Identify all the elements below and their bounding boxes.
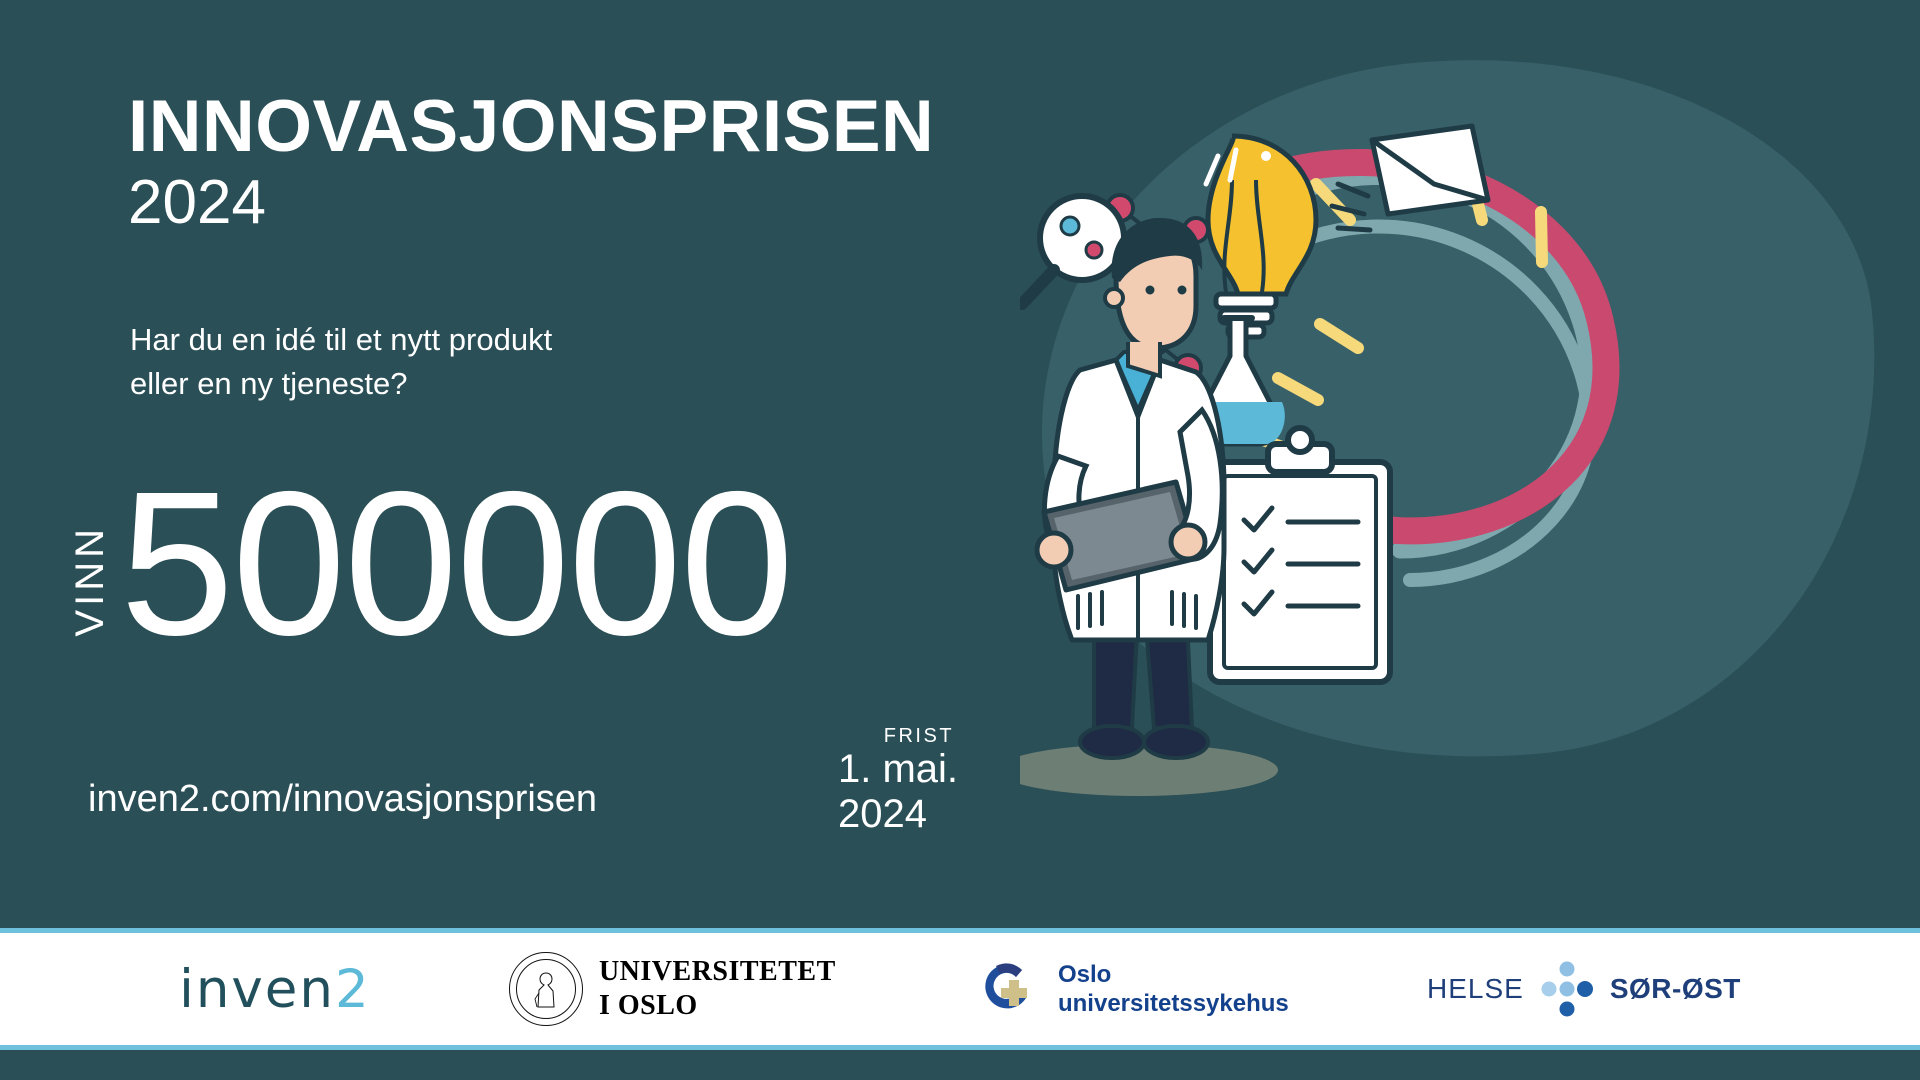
footer-logo-row: inven2 UNIVERSITETET I OSLO <box>0 952 1920 1026</box>
poster-canvas: INNOVASJONSPRISEN 2024 Har du en idé til… <box>0 0 1920 1080</box>
hso-dots-icon <box>1536 960 1598 1018</box>
deadline-label: FRIST <box>838 725 958 747</box>
ous-wordmark-line-2: universitetssykehus <box>1058 989 1289 1018</box>
subtitle-line-2: eller en ny tjeneste? <box>130 362 552 406</box>
inven2-wordmark-light: 2 <box>335 959 371 1020</box>
logo-helse-sor-ost: HELSE SØR-ØST <box>1427 960 1741 1018</box>
headline-year: 2024 <box>128 167 934 238</box>
deadline-block: FRIST 1. mai. 2024 <box>838 725 958 837</box>
ous-mark-icon <box>974 954 1044 1024</box>
prize-block: VINN 500000 <box>70 478 792 650</box>
logo-oslo-universitetssykehus: Oslo universitetssykehus <box>974 954 1289 1024</box>
page-title: INNOVASJONSPRISEN <box>128 90 934 163</box>
scientist-illustration <box>1020 80 1900 840</box>
poster-main-area: INNOVASJONSPRISEN 2024 Har du en idé til… <box>0 0 1920 928</box>
hso-wordmark-helse: HELSE <box>1427 973 1524 1005</box>
deadline-year: 2024 <box>838 792 958 837</box>
logo-universitetet-i-oslo: UNIVERSITETET I OSLO <box>509 952 836 1026</box>
inven2-wordmark-dark: inven <box>179 959 335 1020</box>
uio-seal-icon <box>509 952 583 1026</box>
subtitle-line-1: Har du en idé til et nytt produkt <box>130 318 552 362</box>
vinn-label: VINN <box>70 525 110 637</box>
clipboard-checklist-icon <box>1210 428 1390 682</box>
headline-block: INNOVASJONSPRISEN 2024 <box>128 90 934 238</box>
bottom-strip <box>0 1055 1920 1080</box>
prize-amount: 500000 <box>120 478 792 650</box>
uio-wordmark-line-1: UNIVERSITETET <box>599 955 836 989</box>
hso-wordmark-sorost: SØR-ØST <box>1610 973 1741 1005</box>
subtitle-block: Har du en idé til et nytt produkt eller … <box>130 318 552 406</box>
website-url[interactable]: inven2.com/innovasjonsprisen <box>88 778 597 821</box>
ous-wordmark-line-1: Oslo <box>1058 960 1289 989</box>
uio-wordmark: UNIVERSITETET I OSLO <box>599 955 836 1022</box>
ous-wordmark: Oslo universitetssykehus <box>1058 960 1289 1019</box>
logo-inven2: inven2 <box>179 959 371 1020</box>
scientist-figure <box>1037 218 1224 758</box>
lightbulb-icon <box>1206 136 1316 337</box>
uio-wordmark-line-2: I OSLO <box>599 989 836 1023</box>
partner-logo-footer: inven2 UNIVERSITETET I OSLO <box>0 928 1920 1050</box>
deadline-day: 1. mai. <box>838 747 958 792</box>
magnifier-icon <box>1022 196 1124 304</box>
